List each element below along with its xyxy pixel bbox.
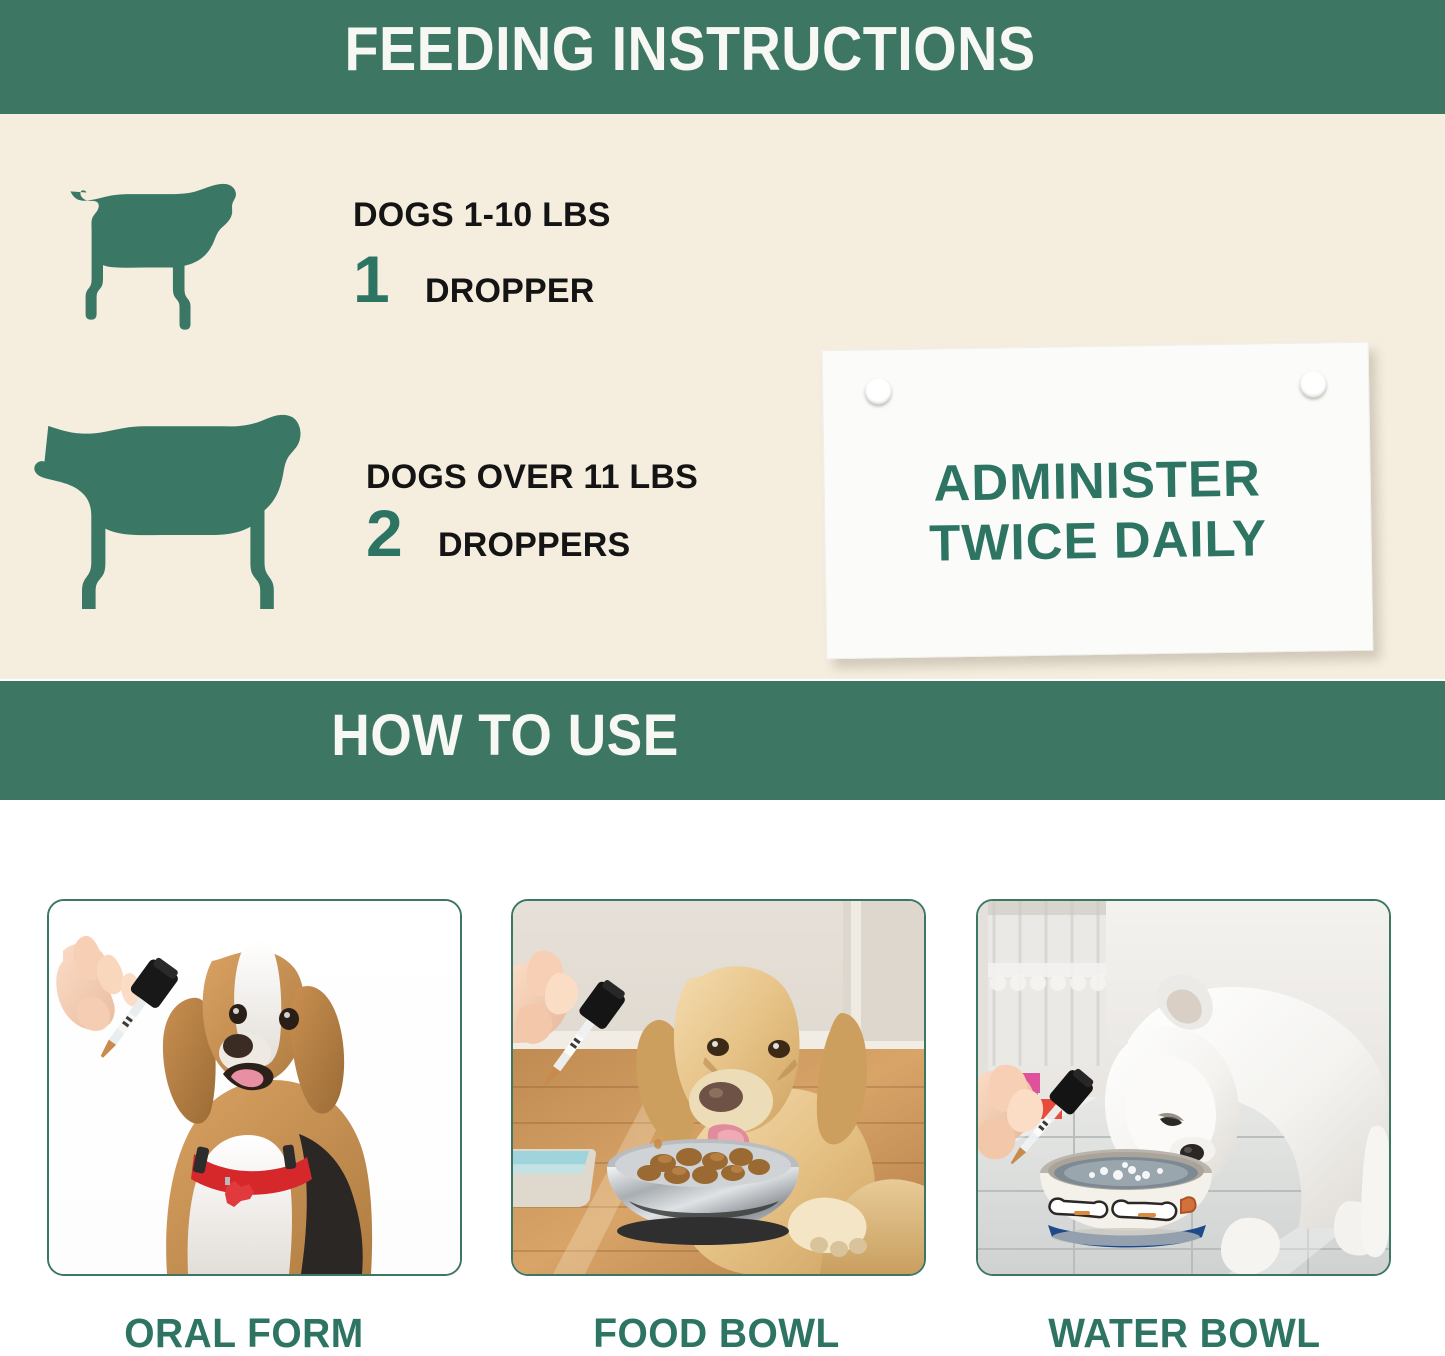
dosage-unit: DROPPER (425, 272, 595, 310)
card-photo-frame (976, 899, 1391, 1276)
sign-line-1: ADMINISTER (824, 447, 1370, 516)
page-title: FEEDING INSTRUCTIONS (69, 14, 1311, 86)
samoyed-drinking-water-photo (978, 901, 1389, 1274)
beagle-receiving-dropper-photo (49, 901, 460, 1274)
dosage-count: 1 (353, 246, 425, 312)
card-label: ORAL FORM (57, 1310, 447, 1356)
sign-line-2: TWICE DAILY (825, 507, 1371, 576)
how-to-use-cards: ORAL FORM (0, 800, 1445, 1352)
sign-grommet-icon (1300, 371, 1326, 397)
how-to-use-banner: HOW TO USE (0, 681, 1445, 800)
dosage-panel: DOGS 1-10 LBS 1 DROPPER DOGS OVER 11 LBS… (0, 114, 1445, 679)
dosage-amount: 2 DROPPERS (366, 500, 698, 566)
dosage-amount: 1 DROPPER (353, 246, 611, 312)
card-photo-frame (47, 899, 462, 1276)
administer-twice-daily-sign: ADMINISTER TWICE DAILY (822, 342, 1374, 660)
dosage-weight-label: DOGS 1-10 LBS (353, 196, 611, 234)
golden-retriever-eating-kibble-photo (513, 901, 924, 1274)
card-label: FOOD BOWL (521, 1310, 911, 1356)
card-photo-frame (511, 899, 926, 1276)
how-to-use-card: WATER BOWL (976, 899, 1387, 1356)
small-dog-silhouette-icon (56, 176, 271, 336)
how-to-use-card: ORAL FORM (47, 899, 458, 1356)
how-to-use-card: FOOD BOWL (511, 899, 922, 1356)
dosage-row: DOGS OVER 11 LBS 2 DROPPERS (30, 404, 698, 609)
feeding-instructions-banner: FEEDING INSTRUCTIONS (0, 0, 1445, 114)
card-label: WATER BOWL (986, 1310, 1376, 1356)
large-dog-silhouette-icon (30, 404, 320, 609)
sign-text: ADMINISTER TWICE DAILY (824, 447, 1371, 576)
dosage-row: DOGS 1-10 LBS 1 DROPPER (56, 176, 611, 336)
dosage-count: 2 (366, 500, 438, 566)
dosage-text: DOGS 1-10 LBS 1 DROPPER (353, 196, 611, 312)
section-title: HOW TO USE (40, 702, 969, 770)
sign-grommet-icon (865, 378, 891, 404)
dosage-text: DOGS OVER 11 LBS 2 DROPPERS (366, 458, 698, 566)
dosage-weight-label: DOGS OVER 11 LBS (366, 458, 698, 496)
dosage-unit: DROPPERS (438, 526, 630, 564)
